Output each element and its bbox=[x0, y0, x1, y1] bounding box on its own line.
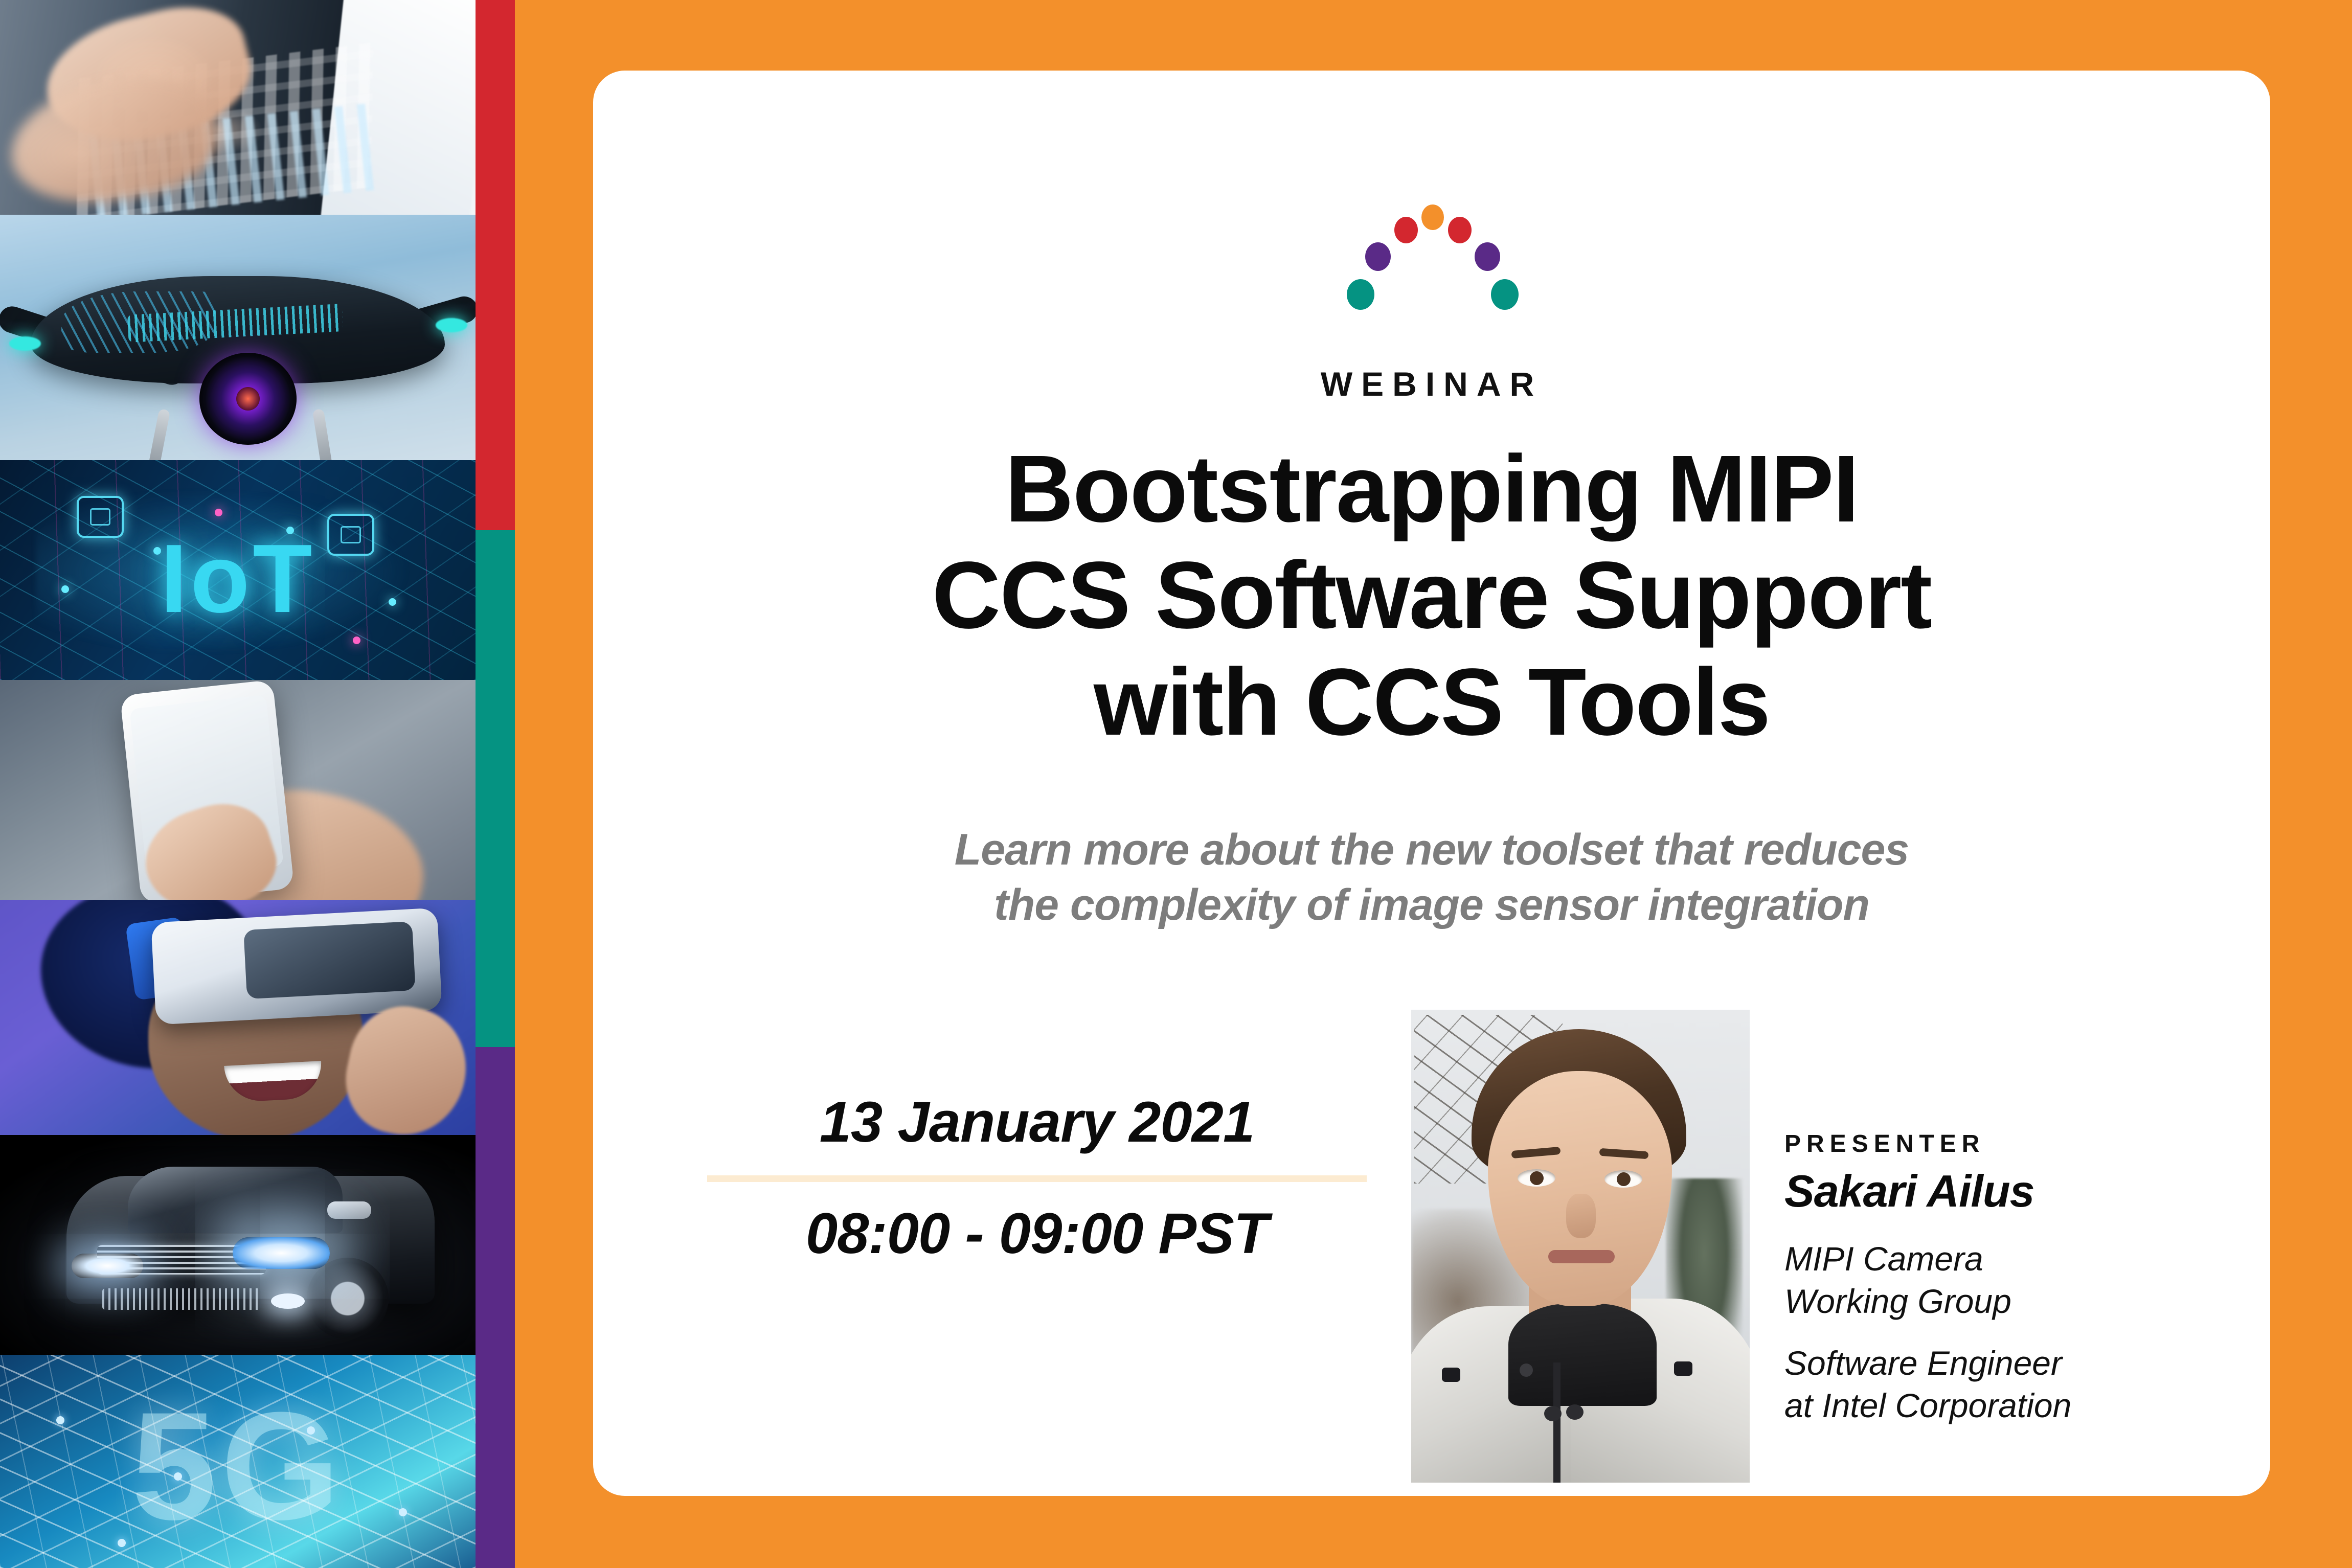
drone-led-left bbox=[9, 336, 41, 351]
photo-5g: 5G bbox=[0, 1355, 476, 1568]
event-time: 08:00 - 09:00 PST bbox=[707, 1200, 1367, 1266]
photo-keyboard bbox=[0, 0, 476, 215]
photo-eye-left bbox=[1518, 1169, 1555, 1187]
page-title: Bootstrapping MIPI CCS Software Support … bbox=[624, 436, 2240, 756]
iot-node-pink bbox=[353, 637, 360, 644]
event-datetime-block: 13 January 2021 08:00 - 09:00 PST bbox=[707, 1089, 1367, 1266]
fiveg-node bbox=[399, 1508, 407, 1516]
photo-eye-right bbox=[1604, 1170, 1642, 1188]
fiveg-network-mesh bbox=[0, 1355, 476, 1568]
car-fog-light bbox=[271, 1293, 305, 1309]
mipi-arch-logo bbox=[1340, 202, 1524, 315]
fiveg-node bbox=[307, 1426, 315, 1435]
car-wheel bbox=[307, 1258, 389, 1339]
vertical-accent-bar bbox=[476, 0, 515, 1568]
presenter-group-line-1: MIPI Camera bbox=[1784, 1238, 2234, 1280]
event-date: 13 January 2021 bbox=[707, 1089, 1367, 1155]
subtitle-line-2: the complexity of image sensor integrati… bbox=[685, 877, 2178, 933]
datetime-divider bbox=[707, 1175, 1367, 1182]
photo-strip: IoT 5G bbox=[0, 0, 476, 1568]
presenter-label: PRESENTER bbox=[1784, 1130, 2234, 1158]
photo-jacket-snap bbox=[1520, 1364, 1533, 1377]
iot-node bbox=[389, 598, 396, 606]
dot-orange-top bbox=[1421, 204, 1444, 230]
page-subtitle: Learn more about the new toolset that re… bbox=[685, 822, 2178, 933]
photo-inner-shirt bbox=[1508, 1304, 1657, 1406]
photo-drawcord-left bbox=[1442, 1368, 1460, 1382]
webinar-eyebrow-label: WEBINAR bbox=[1321, 365, 1543, 403]
presenter-photo bbox=[1411, 1010, 1750, 1483]
photo-nose bbox=[1566, 1194, 1596, 1238]
dot-teal-left bbox=[1347, 279, 1374, 310]
webinar-promo-canvas: IoT 5G bbox=[0, 0, 2352, 1568]
iot-node bbox=[61, 585, 69, 593]
fiveg-node bbox=[56, 1416, 64, 1424]
presenter-group: MIPI Camera Working Group bbox=[1784, 1238, 2234, 1323]
photo-jacket-snap bbox=[1544, 1406, 1562, 1421]
drone-leg-right bbox=[312, 408, 333, 460]
presenter-group-line-2: Working Group bbox=[1784, 1280, 2234, 1323]
accent-segment-purple bbox=[476, 1047, 515, 1568]
dot-red-left bbox=[1394, 217, 1418, 243]
presenter-info: PRESENTER Sakari Ailus MIPI Camera Worki… bbox=[1784, 1130, 2234, 1427]
drone-leg-left bbox=[148, 408, 170, 460]
fiveg-node bbox=[174, 1472, 182, 1481]
drone-camera-gimbal bbox=[199, 353, 297, 445]
iot-chip-icon bbox=[77, 496, 124, 538]
presenter-role: Software Engineer at Intel Corporation bbox=[1784, 1342, 2234, 1427]
dot-purple-left bbox=[1365, 242, 1391, 271]
car-headlight-right bbox=[233, 1237, 330, 1269]
title-line-2: CCS Software Support bbox=[624, 542, 2240, 649]
dot-purple-right bbox=[1475, 242, 1500, 271]
presenter-role-line-1: Software Engineer bbox=[1784, 1342, 2234, 1384]
dot-red-right bbox=[1448, 217, 1472, 243]
car-side-mirror bbox=[327, 1201, 371, 1219]
photo-iot: IoT bbox=[0, 460, 476, 680]
title-line-3: with CCS Tools bbox=[624, 649, 2240, 756]
photo-drone bbox=[0, 215, 476, 460]
presenter-role-line-2: at Intel Corporation bbox=[1784, 1384, 2234, 1427]
iot-node-pink bbox=[215, 509, 222, 516]
car-windshield bbox=[128, 1167, 343, 1233]
accent-segment-teal bbox=[476, 530, 515, 1047]
photo-drawcord-right bbox=[1674, 1361, 1692, 1376]
photo-car bbox=[0, 1135, 476, 1355]
presenter-name: Sakari Ailus bbox=[1784, 1165, 2234, 1217]
subtitle-line-1: Learn more about the new toolset that re… bbox=[685, 822, 2178, 877]
car-headlight-left bbox=[72, 1254, 143, 1278]
iot-device-icon bbox=[327, 514, 374, 556]
photo-mouth bbox=[1548, 1250, 1615, 1263]
content-card: WEBINAR Bootstrapping MIPI CCS Software … bbox=[593, 71, 2270, 1496]
photo-jacket-snap bbox=[1566, 1404, 1584, 1420]
fiveg-node bbox=[118, 1539, 126, 1547]
accent-segment-red bbox=[476, 0, 515, 530]
car-lower-grille bbox=[102, 1288, 261, 1310]
dot-teal-right bbox=[1491, 279, 1519, 310]
title-line-1: Bootstrapping MIPI bbox=[624, 436, 2240, 542]
iot-overlay-text: IoT bbox=[161, 523, 315, 634]
photo-phone bbox=[0, 680, 476, 900]
drone-led-right bbox=[436, 318, 467, 332]
photo-vr bbox=[0, 900, 476, 1135]
photo-jacket-zipper bbox=[1553, 1362, 1561, 1483]
